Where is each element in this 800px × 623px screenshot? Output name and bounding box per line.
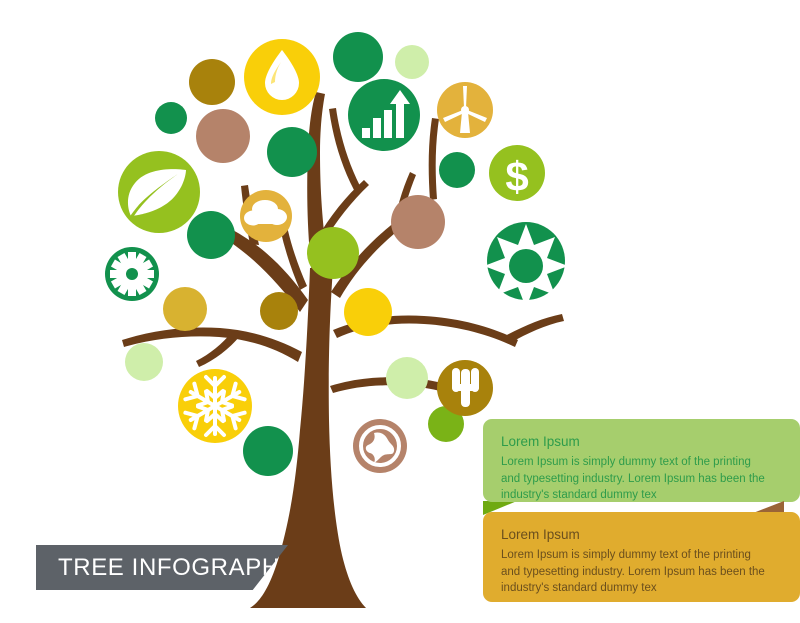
icon-circle-gear[interactable] xyxy=(105,247,159,301)
decorative-circle xyxy=(163,287,207,331)
decorative-circle xyxy=(386,357,428,399)
icon-circle-bar-chart[interactable] xyxy=(348,79,420,151)
decorative-circle xyxy=(439,152,475,188)
decorative-circle xyxy=(125,343,163,381)
infographic-canvas: $ xyxy=(0,0,800,623)
icon-circle-globe[interactable] xyxy=(353,419,407,473)
decorative-circle xyxy=(344,288,392,336)
page-title-banner: TREE INFOGRAPHIC xyxy=(36,545,288,590)
icon-circle-dollar[interactable]: $ xyxy=(489,145,545,201)
callout-gold-body: Lorem Ipsum is simply dummy text of the … xyxy=(501,547,769,596)
icon-circle-cactus[interactable] xyxy=(437,360,493,416)
icon-circle-wind-turbine[interactable] xyxy=(437,82,493,138)
callout-gold-title: Lorem Ipsum xyxy=(501,526,782,544)
icon-circle-leaf[interactable] xyxy=(118,151,200,233)
branch-upper-right-vertical xyxy=(429,118,439,200)
decorative-circle xyxy=(267,127,317,177)
callout-green-body: Lorem Ipsum is simply dummy text of the … xyxy=(501,454,769,503)
decorative-circle xyxy=(395,45,429,79)
decorative-circle xyxy=(187,211,235,259)
icon-circle-cloud[interactable] xyxy=(240,190,292,242)
decorative-circle xyxy=(391,195,445,249)
decorative-circle xyxy=(333,32,383,82)
callout-gold[interactable]: Lorem Ipsum Lorem Ipsum is simply dummy … xyxy=(483,512,800,602)
decorative-circle xyxy=(196,109,250,163)
icon-circle-water-drop[interactable] xyxy=(244,39,320,115)
decorative-circle xyxy=(260,292,298,330)
icon-circle-snowflake[interactable] xyxy=(178,369,252,443)
decorative-circle xyxy=(155,102,187,134)
decorative-circle xyxy=(307,227,359,279)
dollar-sign-icon: $ xyxy=(505,153,528,200)
decorative-circle xyxy=(243,426,293,476)
decorative-circle xyxy=(189,59,235,105)
branch-left-lower-fork xyxy=(196,332,240,367)
branch-right-middle-tip xyxy=(505,314,564,343)
icon-circle-sun[interactable] xyxy=(484,222,568,308)
callout-green-title: Lorem Ipsum xyxy=(501,433,782,451)
callout-green[interactable]: Lorem Ipsum Lorem Ipsum is simply dummy … xyxy=(483,419,800,502)
